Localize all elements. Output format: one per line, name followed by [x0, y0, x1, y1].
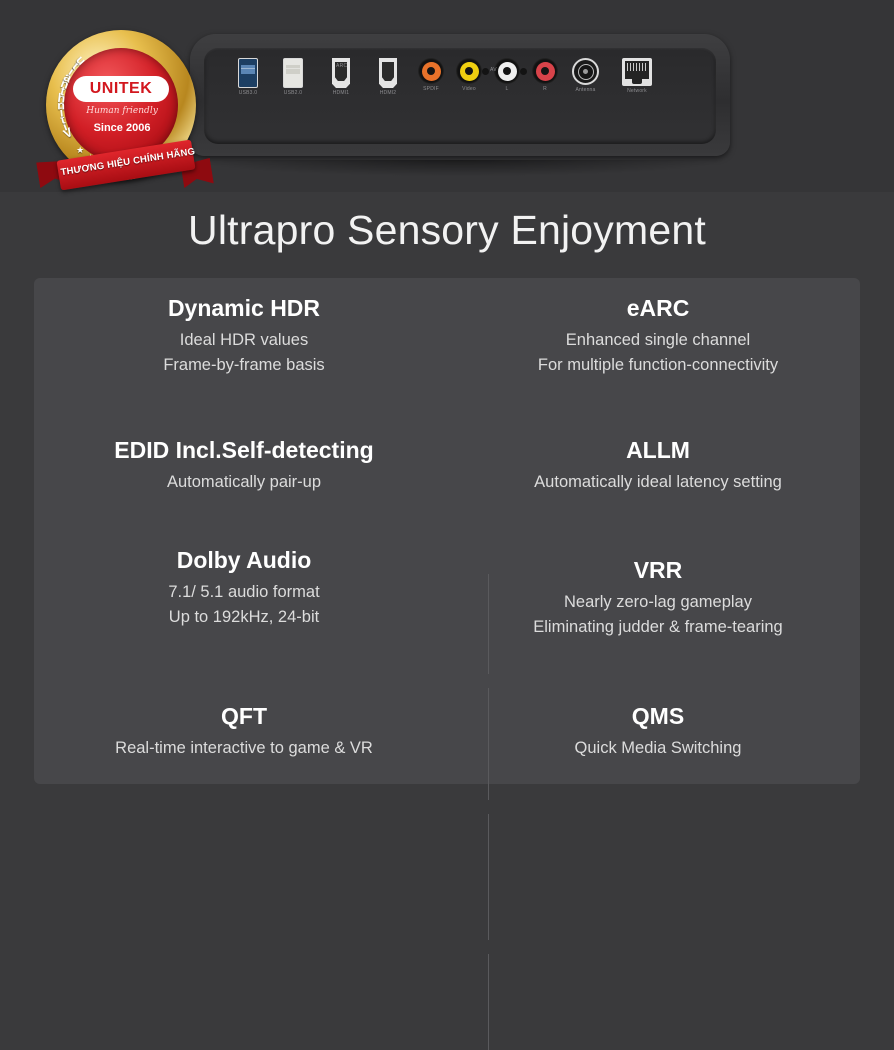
feature-line: Real-time interactive to game & VR [34, 736, 454, 761]
page-headline: Ultrapro Sensory Enjoyment [0, 206, 894, 255]
feature-line: Ideal HDR values [34, 328, 454, 353]
feature-title: ALLM [456, 436, 860, 465]
feature-title: QMS [456, 702, 860, 731]
badge-since-text: Since 2006 [72, 122, 172, 134]
hdmi2-port: HDMI2 [379, 58, 397, 96]
usb2-connector [283, 58, 303, 88]
feature-cell-earc: eARC Enhanced single channel For multipl… [456, 294, 860, 377]
feature-cell-edid: EDID Incl.Self-detecting Automatically p… [34, 436, 454, 495]
hdmi-connector [379, 58, 397, 88]
av-spacer-dot [520, 68, 527, 75]
port-label: R [543, 87, 547, 92]
feature-cell-dynamic-hdr: Dynamic HDR Ideal HDR values Frame-by-fr… [34, 294, 454, 377]
audio-l-port: L [494, 58, 520, 92]
feature-title: QFT [34, 702, 454, 731]
rca-connector [532, 58, 558, 84]
antenna-port: Antenna [572, 58, 599, 93]
port-group-label: AV [490, 68, 497, 73]
column-divider-3 [488, 814, 489, 940]
badge-brand-oval: UNITEK [73, 76, 169, 102]
port-label: Antenna [575, 88, 595, 93]
feature-cell-qms: QMS Quick Media Switching [456, 702, 860, 761]
rj45-connector [622, 58, 652, 86]
badge-brand-text: UNITEK [90, 81, 153, 97]
usb2-port: USB2.0 [283, 58, 303, 96]
feature-line: Automatically ideal latency setting [456, 470, 860, 495]
vitinhthaitu-unitek-badge: Vitinhthaitu★★★★★★ UNITEK Human friendly… [32, 26, 218, 204]
feature-cell-qft: QFT Real-time interactive to game & VR [34, 702, 454, 761]
rca-connector [456, 58, 482, 84]
port-label: L [506, 87, 509, 92]
tv-rear-panel: USB3.0USB2.0HDMI1HDMI2SPDIFVideoLRAntenn… [190, 34, 730, 156]
port-label: USB2.0 [284, 91, 302, 96]
feature-cell-vrr: VRR Nearly zero-lag gameplay Eliminating… [456, 556, 860, 639]
usb3-port: USB3.0 [238, 58, 258, 96]
feature-line: Automatically pair-up [34, 470, 454, 495]
rca-connector [418, 58, 444, 84]
feature-line: Eliminating judder & frame-tearing [456, 615, 860, 640]
usb3-connector [238, 58, 258, 88]
port-label: HDMI2 [380, 91, 397, 96]
column-divider-4 [488, 954, 489, 1050]
port-label: HDMI1 [333, 91, 350, 96]
av-spacer-dot [482, 68, 489, 75]
feature-line: Quick Media Switching [456, 736, 860, 761]
feature-line: Enhanced single channel [456, 328, 860, 353]
feature-title: Dynamic HDR [34, 294, 454, 323]
port-label: Video [462, 87, 476, 92]
port-row: USB3.0USB2.0HDMI1HDMI2SPDIFVideoLRAntenn… [190, 34, 730, 156]
port-label: SPDIF [423, 87, 439, 92]
feature-line: Frame-by-frame basis [34, 353, 454, 378]
port-label: Network [627, 89, 647, 94]
network-port: Network [622, 58, 652, 94]
feature-cell-allm: ALLM Automatically ideal latency setting [456, 436, 860, 495]
feature-title: eARC [456, 294, 860, 323]
audio-r-port: R [532, 58, 558, 92]
port-group-label: ARC [336, 64, 347, 69]
port-label: USB3.0 [239, 91, 257, 96]
badge-ribbon: THƯƠNG HIỆU CHÍNH HÃNG [38, 144, 212, 190]
video-port: Video [456, 58, 482, 92]
feature-title: Dolby Audio [34, 546, 454, 575]
feature-title: EDID Incl.Self-detecting [34, 436, 454, 465]
badge-tagline: Human friendly [76, 106, 168, 116]
feature-line: Nearly zero-lag gameplay [456, 590, 860, 615]
panel-shadow [196, 160, 724, 176]
feature-cell-dolby-audio: Dolby Audio 7.1/ 5.1 audio format Up to … [34, 546, 454, 629]
rca-connector [494, 58, 520, 84]
feature-line: 7.1/ 5.1 audio format [34, 580, 454, 605]
coax-connector [572, 58, 599, 85]
feature-title: VRR [456, 556, 860, 585]
feature-line: Up to 192kHz, 24-bit [34, 605, 454, 630]
spdif-port: SPDIF [418, 58, 444, 92]
feature-line: For multiple function-connectivity [456, 353, 860, 378]
